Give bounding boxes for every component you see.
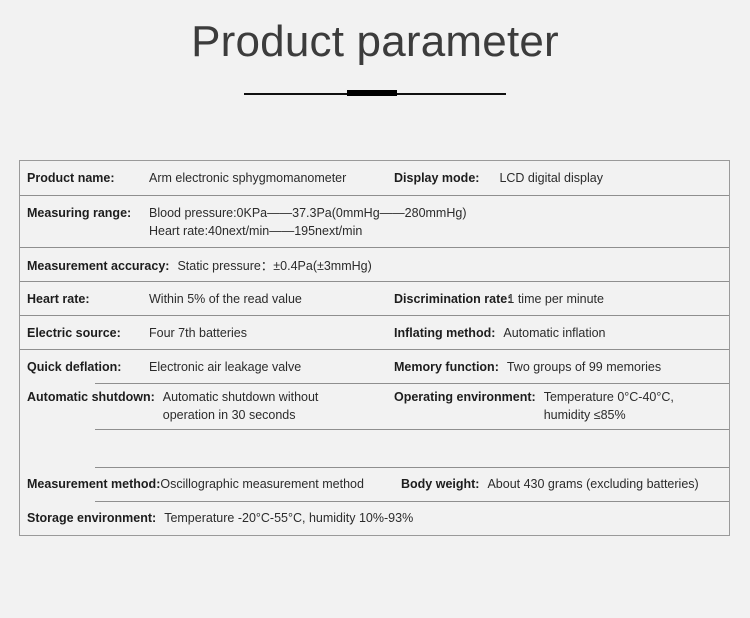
spec-cell-measurement-accuracy: Measurement accuracy: Static pressure：±0… [20, 255, 372, 274]
divider-accent-bar [347, 90, 397, 96]
product-parameter-page: Product parameter Product name: Arm elec… [0, 0, 750, 618]
spec-cell-electric-source: Electric source: Four 7th batteries [20, 326, 394, 340]
value-discrimination-rate: 1 time per minute [507, 292, 604, 306]
table-row: Measurement accuracy: Static pressure：±0… [20, 247, 729, 281]
value-storage-environment: Temperature -20°C-55°C, humidity 10%-93% [164, 511, 413, 525]
value-automatic-shutdown-line-2: operation in 30 seconds [163, 408, 319, 422]
spec-table: Product name: Arm electronic sphygmomano… [19, 160, 730, 536]
value-operating-environment-line-2: humidity ≤85% [544, 408, 674, 422]
value-display-mode: LCD digital display [499, 171, 603, 185]
label-operating-environment: Operating environment: [394, 390, 536, 404]
table-row-empty [20, 429, 729, 467]
table-row: Heart rate: Within 5% of the read value … [20, 281, 729, 315]
value-automatic-shutdown: Automatic shutdown without operation in … [163, 388, 319, 424]
label-electric-source: Electric source: [27, 326, 135, 340]
label-storage-environment: Storage environment: [27, 511, 156, 525]
spec-cell-memory-function: Memory function: Two groups of 99 memori… [394, 360, 729, 374]
spec-cell-product-name: Product name: Arm electronic sphygmomano… [20, 171, 394, 185]
label-quick-deflation: Quick deflation: [27, 360, 135, 374]
label-memory-function: Memory function: [394, 360, 499, 374]
value-measurement-method: Oscillographic measurement method [160, 477, 364, 491]
table-row: Quick deflation: Electronic air leakage … [20, 349, 729, 383]
value-measuring-range-line-2: Heart rate:40next/min——195next/min [149, 224, 467, 238]
label-display-mode: Display mode: [394, 171, 479, 185]
spec-cell-storage-environment: Storage environment: Temperature -20°C-5… [20, 511, 413, 525]
table-row: Measurement method: Oscillographic measu… [20, 467, 729, 501]
table-row: Measuring range: Blood pressure:0KPa——37… [20, 195, 729, 247]
label-heart-rate: Heart rate: [27, 292, 135, 306]
label-measurement-accuracy: Measurement accuracy: [27, 259, 169, 273]
value-electric-source: Four 7th batteries [149, 326, 247, 340]
spec-cell-display-mode: Display mode: LCD digital display [394, 171, 729, 185]
label-discrimination-rate: Discrimination rate: [394, 292, 511, 306]
label-body-weight: Body weight: [401, 477, 479, 491]
table-row: Automatic shutdown: Automatic shutdown w… [20, 383, 729, 429]
label-inflating-method: Inflating method: [394, 326, 495, 340]
label-automatic-shutdown: Automatic shutdown: [27, 390, 155, 404]
page-title: Product parameter [0, 14, 750, 69]
value-operating-environment-line-1: Temperature 0°C-40°C, [544, 390, 674, 404]
title-block: Product parameter [0, 0, 750, 99]
table-row: Storage environment: Temperature -20°C-5… [20, 501, 729, 535]
value-operating-environment: Temperature 0°C-40°C, humidity ≤85% [544, 388, 674, 424]
table-row: Product name: Arm electronic sphygmomano… [20, 161, 729, 195]
title-divider [244, 87, 506, 99]
spec-cell-measurement-method: Measurement method: Oscillographic measu… [20, 477, 401, 491]
value-measurement-accuracy: Static pressure：±0.4Pa(±3mmHg) [177, 255, 371, 274]
value-measuring-range: Blood pressure:0KPa——37.3Pa(0mmHg——280mm… [149, 204, 467, 240]
spec-cell-automatic-shutdown: Automatic shutdown: Automatic shutdown w… [20, 388, 394, 424]
value-measuring-range-line-1: Blood pressure:0KPa——37.3Pa(0mmHg——280mm… [149, 206, 467, 220]
spec-cell-measuring-range: Measuring range: Blood pressure:0KPa——37… [20, 204, 729, 240]
value-heart-rate: Within 5% of the read value [149, 292, 302, 306]
spec-cell-operating-environment: Operating environment: Temperature 0°C-4… [394, 388, 729, 424]
spec-cell-quick-deflation: Quick deflation: Electronic air leakage … [20, 360, 394, 374]
value-quick-deflation: Electronic air leakage valve [149, 360, 301, 374]
value-memory-function: Two groups of 99 memories [507, 360, 661, 374]
spec-cell-body-weight: Body weight: About 430 grams (excluding … [401, 477, 729, 491]
spec-cell-heart-rate: Heart rate: Within 5% of the read value [20, 292, 394, 306]
label-measuring-range: Measuring range: [27, 206, 135, 220]
label-measurement-method: Measurement method: [27, 477, 160, 491]
label-product-name: Product name: [27, 171, 135, 185]
spec-cell-discrimination-rate: Discrimination rate: 1 time per minute [394, 292, 729, 306]
value-inflating-method: Automatic inflation [503, 326, 605, 340]
value-body-weight: About 430 grams (excluding batteries) [487, 477, 698, 491]
value-product-name: Arm electronic sphygmomanometer [149, 171, 346, 185]
spec-cell-inflating-method: Inflating method: Automatic inflation [394, 326, 729, 340]
table-row: Electric source: Four 7th batteries Infl… [20, 315, 729, 349]
value-automatic-shutdown-line-1: Automatic shutdown without [163, 390, 319, 404]
